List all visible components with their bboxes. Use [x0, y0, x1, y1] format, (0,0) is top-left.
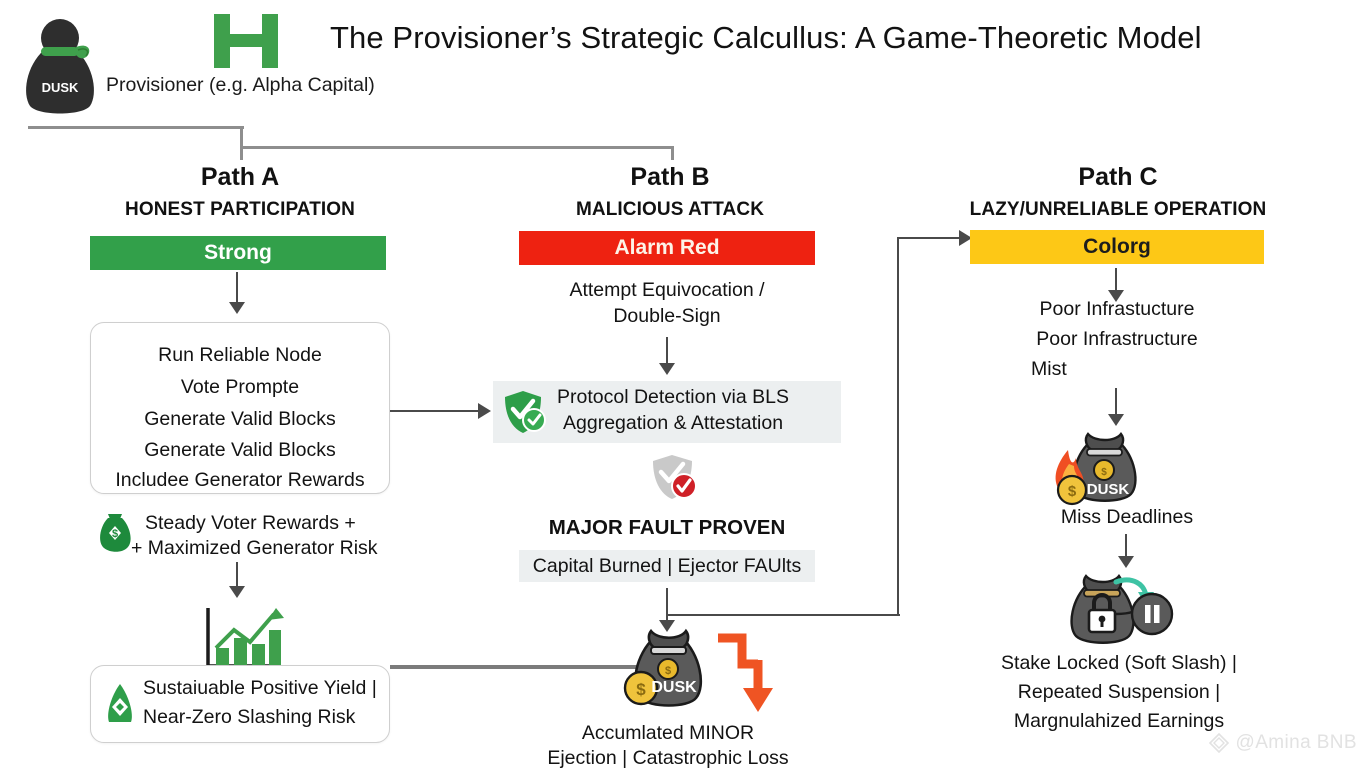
- connector-a-to-b: [390, 410, 481, 412]
- connector-root-horizontal: [28, 126, 244, 129]
- path-b-banner: Alarm Red: [519, 231, 815, 265]
- svg-text:$: $: [636, 680, 646, 699]
- path-b-subtitle: MALICIOUS ATTACK: [500, 199, 840, 221]
- path-b-attempt-line1: Attempt Equivocation /: [515, 279, 819, 302]
- path-a-arrow-head: [229, 302, 245, 314]
- connector-a-to-b-arrowhead: [478, 403, 491, 419]
- path-a-subtitle: HONEST PARTICIPATION: [70, 199, 410, 221]
- path-a-outcome-line2: Near-Zero Slashing Risk: [143, 706, 355, 729]
- path-a-arrow-shaft: [236, 272, 238, 304]
- orange-drop-arrow-icon: [716, 630, 776, 720]
- path-a-outcome-box: Sustaiuable Positive Yield | Near-Zero S…: [90, 665, 390, 743]
- path-c-title: Path C: [970, 163, 1266, 192]
- watermark: @Amina BNB: [1208, 732, 1358, 754]
- path-c-arrow1-shaft: [1115, 268, 1117, 292]
- diagram-canvas: DUSK The Provisioner’s Strategic Calcull…: [0, 0, 1365, 768]
- svg-text:$: $: [1068, 483, 1077, 500]
- provisioner-label: Provisioner (e.g. Alpha Capital): [106, 74, 375, 97]
- path-b-attempt-line2: Double-Sign: [515, 305, 819, 328]
- path-b-arrow1-head: [659, 363, 675, 375]
- path-a-banner: Strong: [90, 236, 386, 270]
- path-c-arrow2-head: [1108, 414, 1124, 426]
- watermark-text: @Amina BNB: [1236, 732, 1358, 754]
- green-shield-check-icon: [501, 388, 551, 436]
- path-c-outcome-line-2: Margnulahized Earnings: [965, 710, 1273, 733]
- connector-to-path-a: [240, 146, 243, 160]
- locked-bag-pause-icon: [1054, 568, 1178, 652]
- path-a-action-2: Generate Valid Blocks: [91, 403, 389, 435]
- path-b-detection-line2: Aggregation & Attestation: [563, 412, 783, 435]
- path-b-detection-line1: Protocol Detection via BLS: [557, 386, 789, 409]
- path-b-fault-detail: Capital Burned | Ejector FAUlts: [519, 550, 815, 582]
- dusk-bag-coin-icon: $ $ DUSK: [614, 628, 724, 720]
- provisioner-bag-icon: DUSK: [14, 14, 106, 118]
- path-c-cause-1: Poor Infrastructure: [975, 328, 1259, 351]
- connector-to-path-b: [671, 146, 674, 160]
- path-a-reward-line1: Steady Voter Rewards +: [145, 512, 356, 535]
- path-c-outcome-line-0: Stake Locked (Soft Slash) |: [965, 652, 1273, 675]
- path-b-loss-line1: Accumlated MINOR: [530, 722, 806, 745]
- diamond-badge-icon: [1208, 732, 1230, 754]
- connector-b-to-c-vertical: [897, 237, 899, 616]
- sustainable-yield-icon: [103, 680, 137, 728]
- path-a-action-4: Includee Generator Rewards: [91, 465, 389, 495]
- path-a-action-0: Run Reliable Node: [91, 339, 389, 371]
- connector-root-branch: [240, 146, 674, 149]
- path-b-fault-title: MAJOR FAULT PROVEN: [515, 516, 819, 540]
- path-c-outcome-line-1: Repeated Suspension |: [965, 681, 1273, 704]
- path-b-loss-line2: Ejection | Catastrophic Loss: [500, 747, 836, 768]
- path-c-bag-token: DUSK: [1087, 481, 1130, 498]
- path-a-action-1: Vote Prompte: [91, 371, 389, 403]
- path-b-bag-token: DUSK: [651, 679, 697, 696]
- path-a-reward-arrow-head: [229, 586, 245, 598]
- path-b-title: Path B: [520, 163, 820, 192]
- path-c-cause-2: Mist: [1031, 358, 1067, 381]
- svg-text:$: $: [665, 665, 671, 677]
- path-a-outcome-line1: Sustaiuable Positive Yield |: [143, 677, 377, 700]
- path-a-reward-line2: + Maximized Generator Risk: [131, 537, 378, 560]
- svg-text:$: $: [1101, 467, 1107, 478]
- path-b-arrow1-shaft: [666, 337, 668, 365]
- path-c-cause-0: Poor Infrastucture: [975, 298, 1259, 321]
- path-a-action-3: Generate Valid Blocks: [91, 435, 389, 465]
- path-c-subtitle: LAZY/UNRELIABLE OPERATION: [948, 199, 1288, 221]
- path-c-burn-label: Miss Deadlines: [1000, 506, 1254, 529]
- path-c-arrow3-head: [1118, 556, 1134, 568]
- connector-into-path-c: [897, 237, 965, 239]
- grey-shield-red-check-icon: [648, 452, 702, 502]
- connector-root-drop: [240, 126, 243, 148]
- path-b-arrow2-shaft: [666, 588, 668, 622]
- svg-text:$: $: [112, 528, 118, 540]
- path-a-title: Path A: [90, 163, 390, 192]
- path-b-detection-box: Protocol Detection via BLS Aggregation &…: [493, 381, 841, 443]
- connector-b-to-c-horizontal: [668, 614, 900, 616]
- path-c-arrow2-shaft: [1115, 388, 1117, 416]
- bag-token-label: DUSK: [42, 80, 79, 95]
- page-title: The Provisioner’s Strategic Calcullus: A…: [330, 20, 1270, 56]
- path-a-actions-box: Run Reliable Node Vote Prompte Generate …: [90, 322, 390, 494]
- path-a-reward-arrow-shaft: [236, 562, 238, 588]
- h-logo-icon: [210, 12, 282, 70]
- path-c-banner: Colorg: [970, 230, 1264, 264]
- burning-dusk-bag-icon: $ DUSK $: [1046, 428, 1162, 510]
- connector-a-outcome-to-center: [390, 665, 645, 669]
